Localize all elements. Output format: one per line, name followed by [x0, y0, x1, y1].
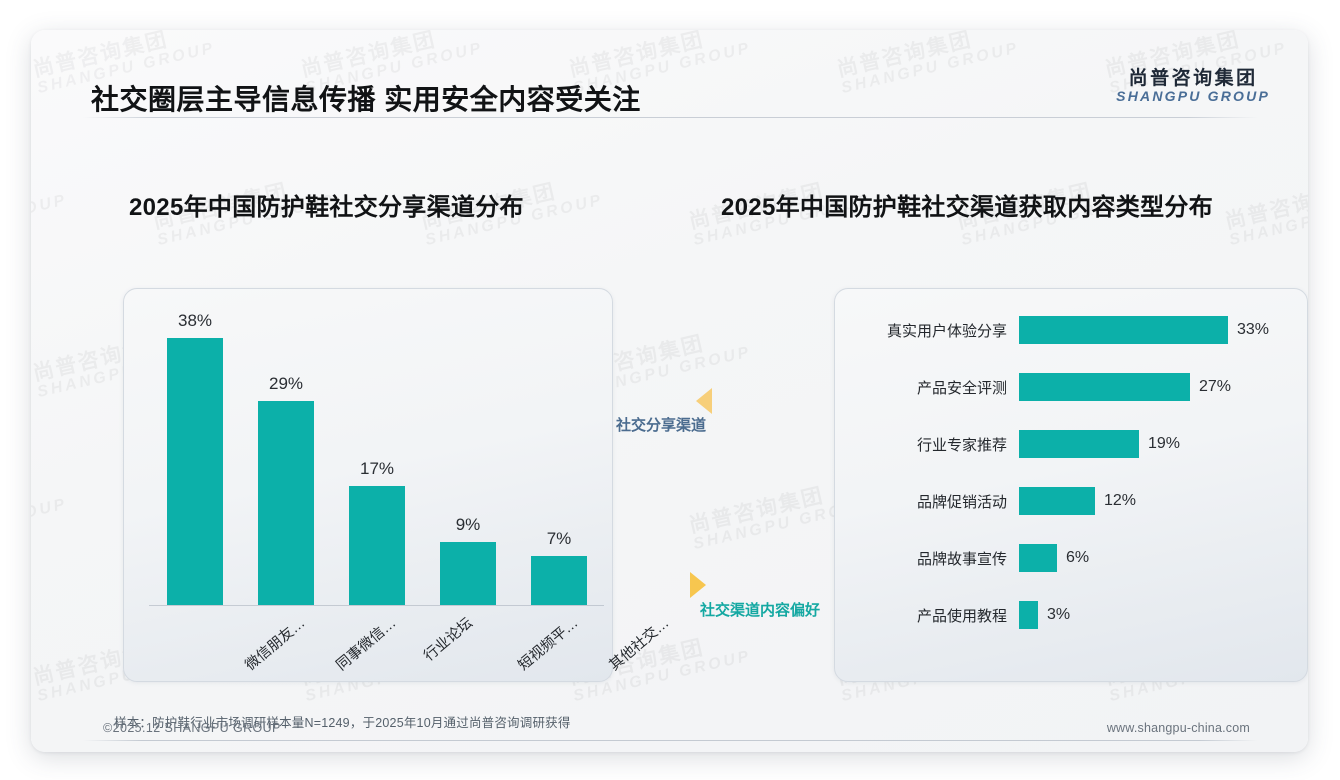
bar-row: 真实用户体验分享33%	[851, 315, 1291, 345]
bar-row: 品牌故事宣传6%	[851, 543, 1291, 573]
column-bar	[258, 401, 314, 605]
bar-value-label: 33%	[1228, 321, 1269, 339]
bar-row: 产品安全评测27%	[851, 372, 1291, 402]
content-type-preference-chart: 真实用户体验分享33%产品安全评测27%行业专家推荐19%品牌促销活动12%品牌…	[851, 315, 1291, 655]
brand-name-en: SHANGPU GROUP	[1116, 89, 1270, 105]
slide-canvas: 尚普咨询集团SHANGPU GROUP尚普咨询集团SHANGPU GROUP尚普…	[31, 30, 1308, 752]
bar-fill	[1019, 601, 1038, 629]
column-chart-baseline	[149, 605, 604, 606]
bar-category-label: 产品安全评测	[851, 377, 1019, 398]
bar-category-label: 真实用户体验分享	[851, 320, 1019, 341]
column-value-label: 17%	[349, 459, 405, 479]
triangle-right-icon	[690, 572, 706, 598]
brand-name-cn: 尚普咨询集团	[1116, 68, 1270, 89]
column-value-label: 29%	[258, 374, 314, 394]
triangle-left-icon	[696, 388, 712, 414]
brand-logo: 尚普咨询集团 SHANGPU GROUP	[1116, 68, 1270, 105]
bar-fill	[1019, 430, 1139, 458]
column-value-label: 38%	[167, 311, 223, 331]
bar-row: 行业专家推荐19%	[851, 429, 1291, 459]
header-divider	[83, 117, 1258, 118]
annotation-share-label: 社交分享渠道	[616, 417, 706, 434]
bar-value-label: 6%	[1057, 549, 1089, 567]
bar-category-label: 产品使用教程	[851, 605, 1019, 626]
bar-row: 品牌促销活动12%	[851, 486, 1291, 516]
column-bar	[349, 486, 405, 605]
bar-value-label: 3%	[1038, 606, 1070, 624]
column-bar	[531, 556, 587, 605]
column-value-label: 9%	[440, 515, 496, 535]
bar-fill	[1019, 544, 1057, 572]
annotation-preference-label: 社交渠道内容偏好	[700, 602, 820, 619]
social-share-channel-chart: 38%29%17%9%7%	[149, 310, 604, 605]
page-title: 社交圈层主导信息传播 实用安全内容受关注	[91, 78, 641, 118]
bar-fill	[1019, 316, 1228, 344]
watermark-text: 尚普咨询集团SHANGPU GROUP	[31, 171, 69, 250]
bar-fill	[1019, 373, 1190, 401]
watermark-text: 尚普咨询集团SHANGPU GROUP	[31, 475, 69, 554]
bar-fill	[1019, 487, 1095, 515]
column-value-label: 7%	[531, 529, 587, 549]
bar-row: 产品使用教程3%	[851, 600, 1291, 630]
left-chart-title: 2025年中国防护鞋社交分享渠道分布	[129, 187, 524, 222]
bar-category-label: 品牌促销活动	[851, 491, 1019, 512]
footer-divider	[83, 740, 1258, 741]
watermark-text: 尚普咨询集团SHANGPU GROUP	[1223, 171, 1308, 250]
column-category-label: 其他社交…	[604, 612, 673, 675]
bar-value-label: 27%	[1190, 378, 1231, 396]
bar-value-label: 19%	[1139, 435, 1180, 453]
slide-header: 社交圈层主导信息传播 实用安全内容受关注 尚普咨询集团 SHANGPU GROU…	[31, 30, 1308, 118]
bar-value-label: 12%	[1095, 492, 1136, 510]
annotation-content-preference: 社交渠道内容偏好	[700, 599, 820, 620]
footer-copyright: ©2025.12 SHANGPU GROUP	[103, 721, 281, 735]
column-bar	[167, 338, 223, 605]
bar-category-label: 行业专家推荐	[851, 434, 1019, 455]
column-bar	[440, 542, 496, 605]
right-chart-title: 2025年中国防护鞋社交渠道获取内容类型分布	[721, 187, 1213, 222]
footer-website: www.shangpu-china.com	[1107, 721, 1250, 735]
bar-category-label: 品牌故事宣传	[851, 548, 1019, 569]
annotation-social-share-channel: 社交分享渠道	[616, 414, 706, 435]
